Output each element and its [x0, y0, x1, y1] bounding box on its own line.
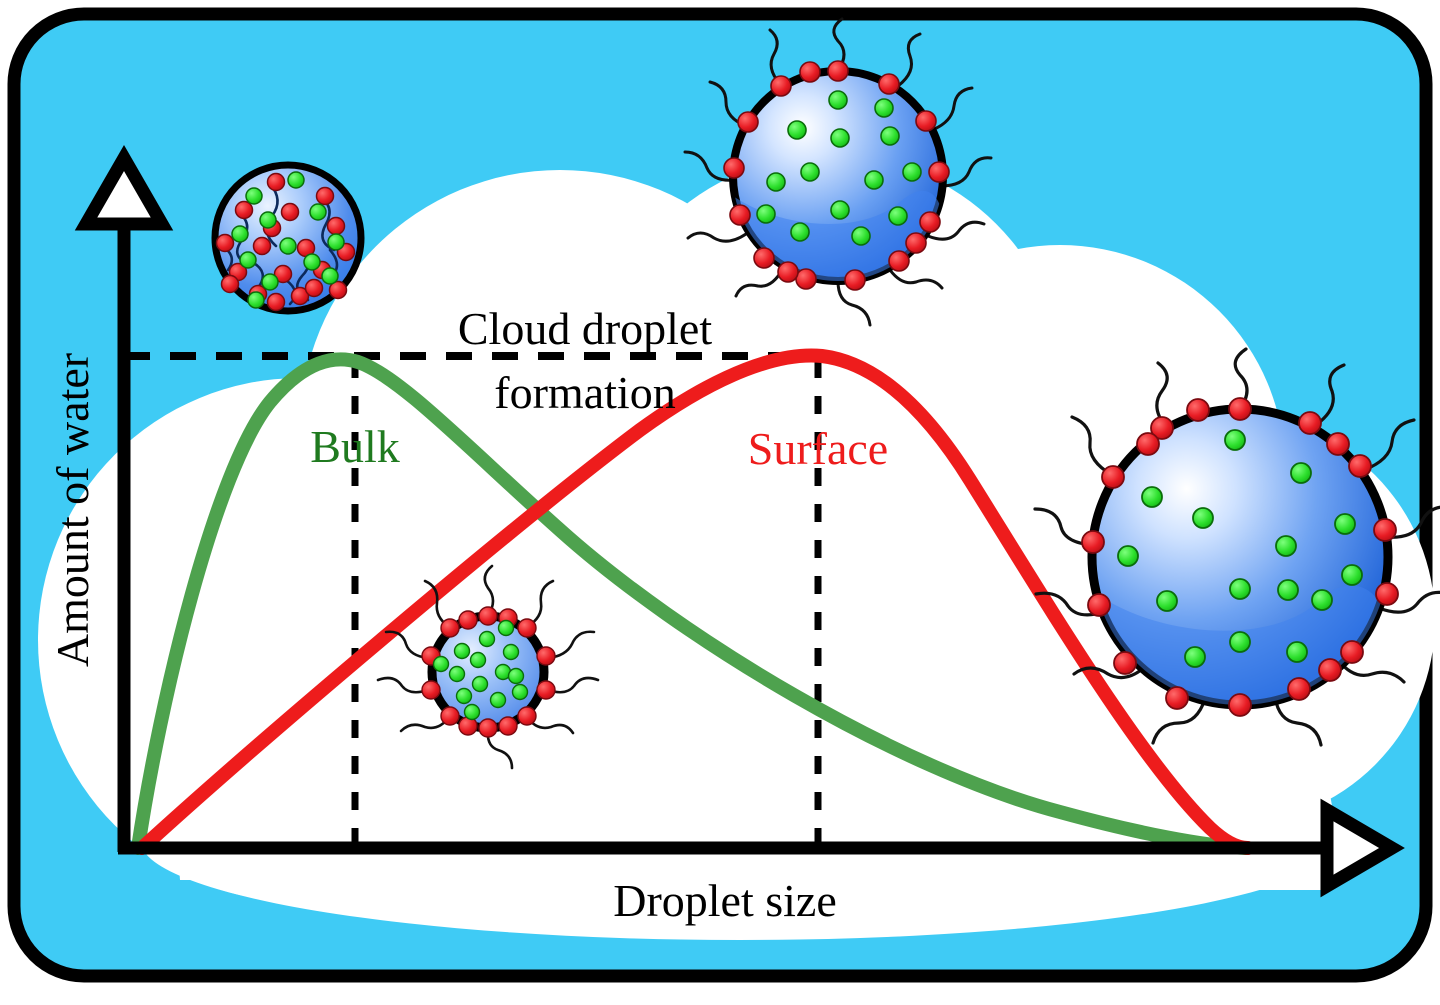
small-droplet-bulk-distributed	[215, 165, 361, 311]
y-axis-label: Amount of water	[47, 353, 98, 667]
figure-canvas: Amount of water Droplet size Cloud dropl…	[0, 0, 1440, 1005]
surface-series-label: Surface	[748, 423, 888, 474]
bulk-series-label: Bulk	[310, 421, 399, 472]
x-axis-label: Droplet size	[613, 875, 837, 926]
threshold-annotation-line1: Cloud droplet	[458, 303, 712, 354]
threshold-annotation-line2: formation	[494, 367, 675, 418]
cloud-droplet-formation-figure: Amount of water Droplet size Cloud dropl…	[0, 0, 1440, 1005]
